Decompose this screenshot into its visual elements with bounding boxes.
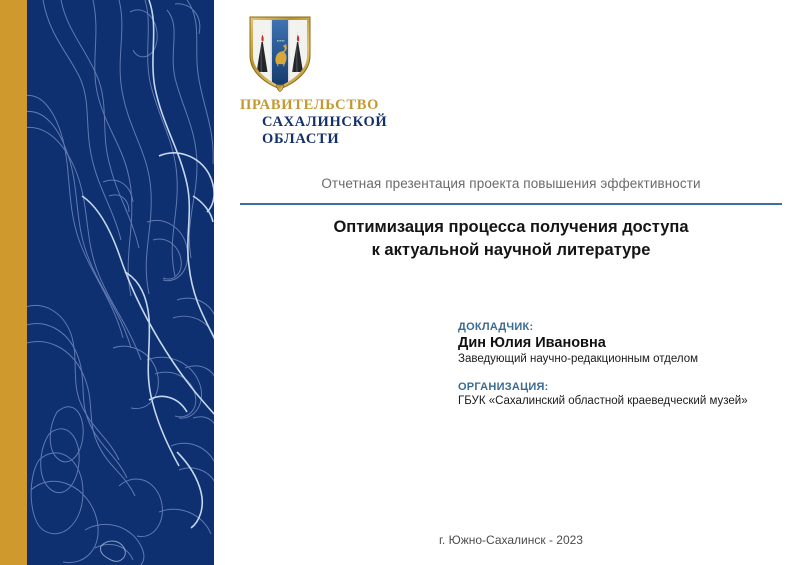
page-title-line-1: Оптимизация процесса получения доступа [240, 216, 782, 239]
topographic-contour-graphic [27, 0, 214, 565]
gold-accent-strip [0, 0, 27, 565]
sakhalin-contour-map-panel [27, 0, 214, 565]
government-emblem-block: ПРАВИТЕЛЬСТВО САХАЛИНСКОЙ ОБЛАСТИ [240, 16, 570, 147]
government-wordmark: ПРАВИТЕЛЬСТВО САХАЛИНСКОЙ ОБЛАСТИ [240, 97, 570, 147]
organization-label: ОРГАНИЗАЦИЯ: [458, 381, 788, 393]
presentation-kicker: Отчетная презентация проекта повышения э… [240, 176, 782, 191]
speaker-name: Дин Юлия Ивановна [458, 335, 788, 351]
speaker-position: Заведующий научно-редакционным отделом [458, 353, 788, 365]
decorative-sidebar [0, 0, 214, 565]
page-title-line-2: к актуальной научной литературе [240, 239, 782, 262]
page-title: Оптимизация процесса получения доступа к… [240, 216, 782, 263]
header-divider-rule [240, 203, 782, 205]
footer-place-year: г. Южно-Сахалинск - 2023 [240, 533, 782, 547]
credits-block: ДОКЛАДЧИК: Дин Юлия Ивановна Заведующий … [458, 321, 788, 407]
speaker-label: ДОКЛАДЧИК: [458, 321, 788, 333]
presentation-title-slide: ПРАВИТЕЛЬСТВО САХАЛИНСКОЙ ОБЛАСТИ Отчетн… [0, 0, 800, 565]
wordmark-line-government: ПРАВИТЕЛЬСТВО [240, 97, 570, 114]
wordmark-line-oblast: ОБЛАСТИ [262, 131, 570, 148]
organization-group: ОРГАНИЗАЦИЯ: ГБУК «Сахалинский областной… [458, 381, 788, 407]
sakhalin-oblast-coat-of-arms [248, 16, 312, 92]
wordmark-line-sakhalin: САХАЛИНСКОЙ [262, 114, 570, 131]
organization-value: ГБУК «Сахалинский областной краеведчески… [458, 395, 788, 407]
speaker-group: ДОКЛАДЧИК: Дин Юлия Ивановна Заведующий … [458, 321, 788, 365]
